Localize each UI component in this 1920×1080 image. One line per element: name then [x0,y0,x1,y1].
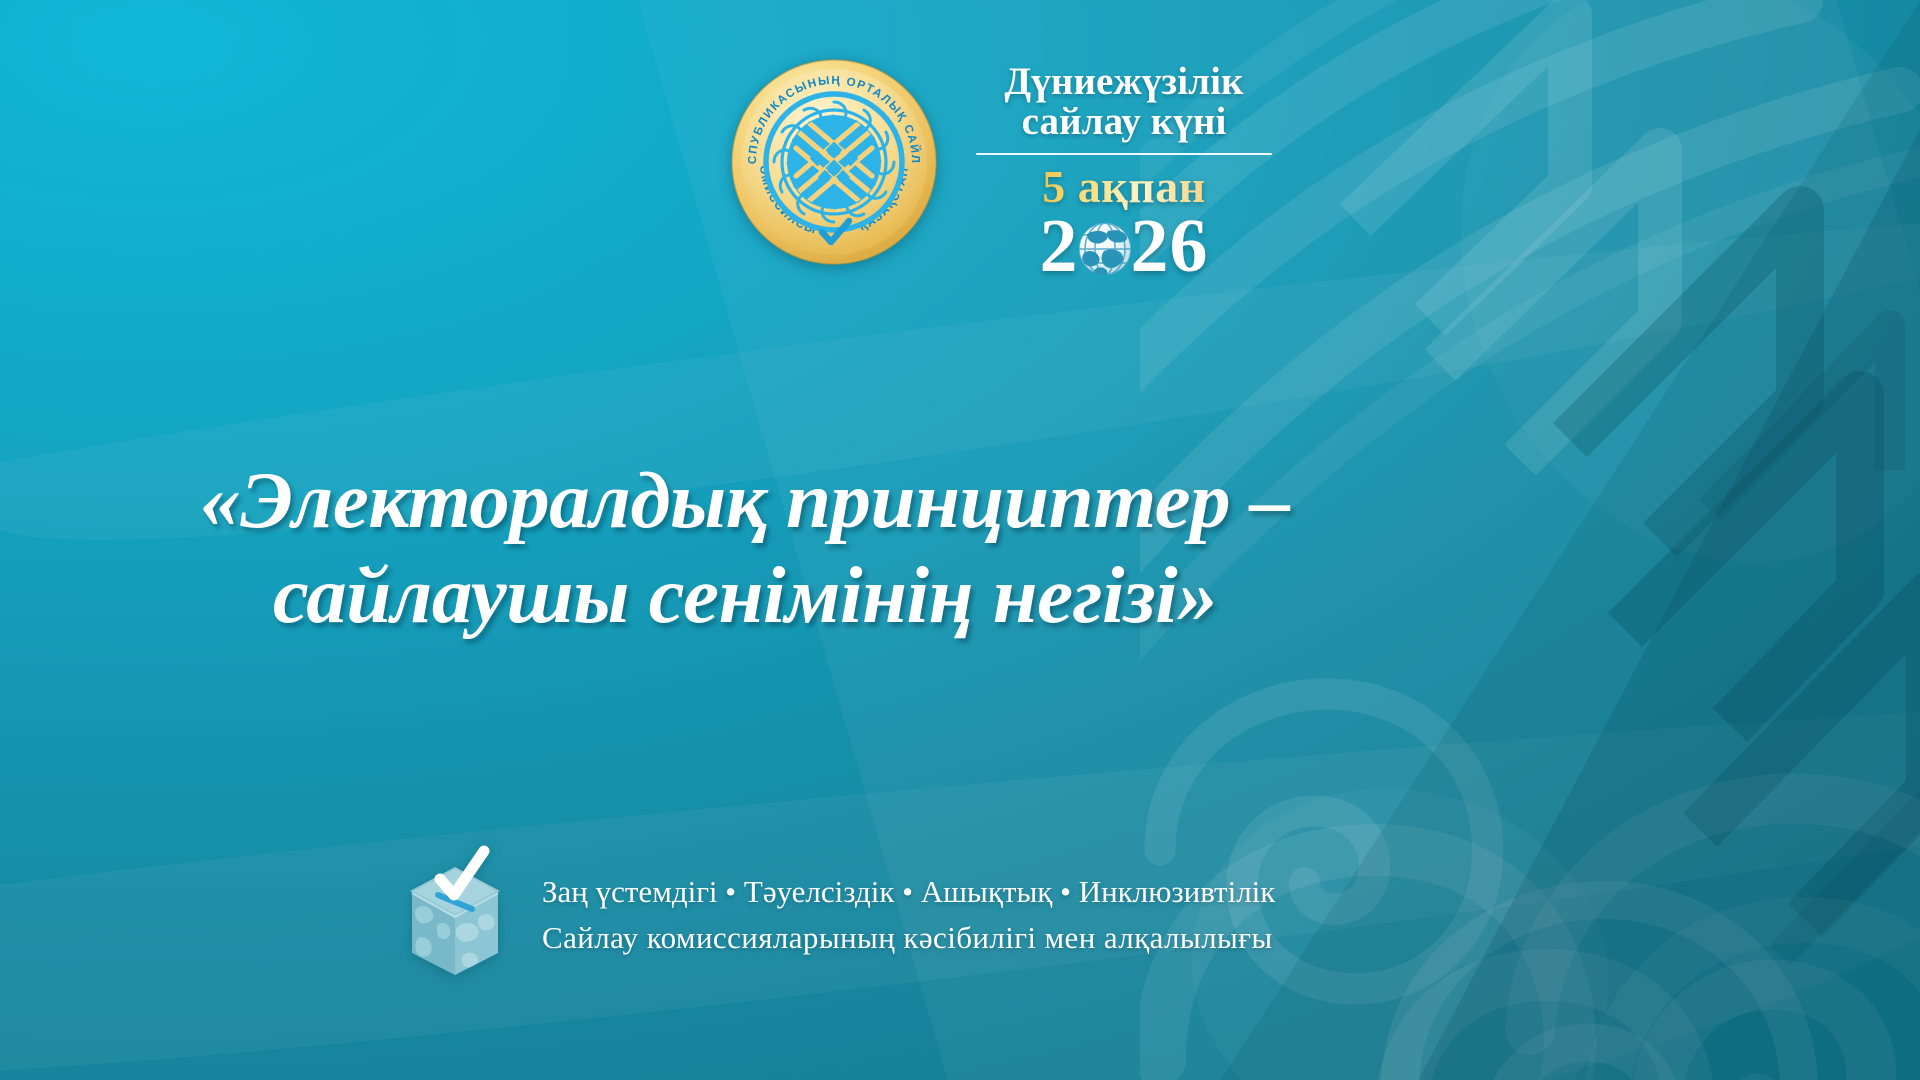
title-line-2: сайлаушы сенімінің негізі» [0,550,1490,641]
header-date: 5 ақпан [964,164,1284,210]
ballot-box-icon [400,845,510,985]
election-day-poster: РЕСПУБЛИКАСЫНЫҢ ОРТАЛЫҚ САЙЛАУ КОМИССИЯС… [0,0,1920,1080]
title-line-1: «Электоралдық принциптер – [0,455,1490,546]
page-title: «Электоралдық принциптер – сайлаушы сені… [0,455,1490,640]
year-digits-after: 26 [1131,208,1209,284]
header-line-1: Дүниежүзілік [964,62,1284,102]
slogan-line-2: Сайлау комиссияларының кәсібилігі мен ал… [542,915,1275,962]
header-line-2: сайлау күні [964,102,1284,142]
globe-icon [1077,217,1133,279]
slogan-block: Заң үстемдігі • Тәуелсіздік • Ашықтық • … [400,845,1275,985]
header-divider [976,153,1272,155]
year-digits-before: 2 [1040,208,1079,284]
slogan-line-1: Заң үстемдігі • Тәуелсіздік • Ашықтық • … [542,869,1275,916]
header-year: 2 [1040,208,1209,284]
slogan-text: Заң үстемдігі • Тәуелсіздік • Ашықтық • … [542,869,1275,962]
poster-header: РЕСПУБЛИКАСЫНЫҢ ОРТАЛЫҚ САЙЛАУ КОМИССИЯС… [730,58,1284,284]
emblem: РЕСПУБЛИКАСЫНЫҢ ОРТАЛЫҚ САЙЛАУ КОМИССИЯС… [730,58,938,266]
header-text-block: Дүниежүзілік сайлау күні 5 ақпан 2 [964,58,1284,284]
